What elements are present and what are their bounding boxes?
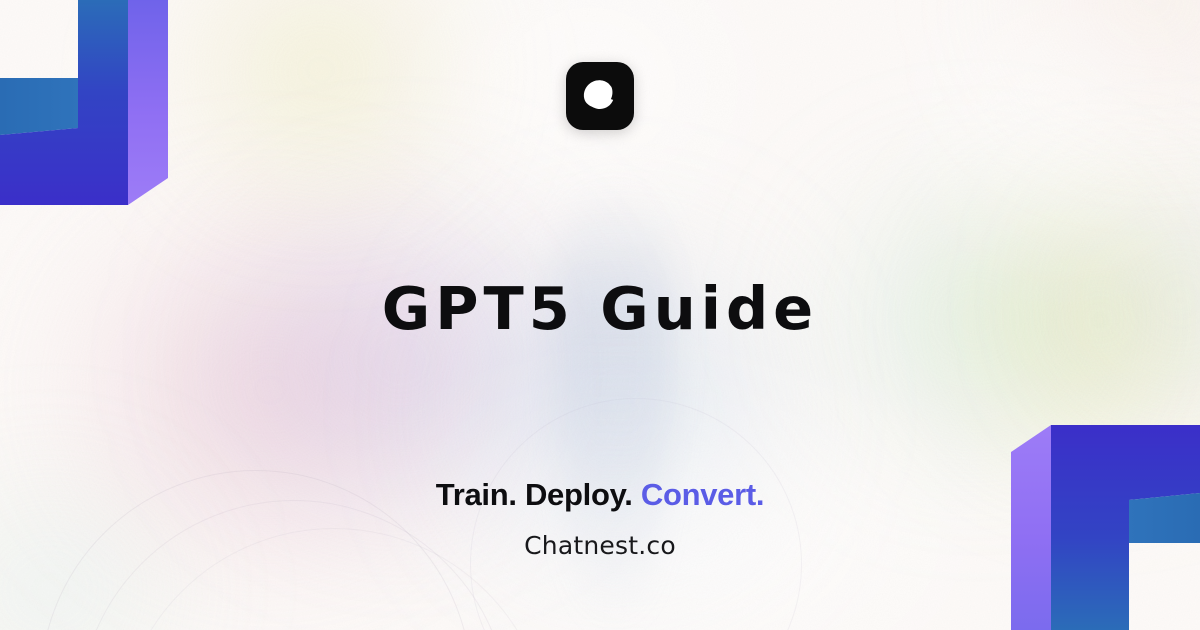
domain-label: Chatnest.co	[0, 531, 1200, 560]
page-title: GPT5 Guide	[0, 278, 1200, 340]
tagline: Train. Deploy. Convert.	[0, 477, 1200, 513]
tagline-accent: Convert.	[641, 477, 764, 512]
og-social-card: GPT5 Guide Train. Deploy. Convert. Chatn…	[0, 0, 1200, 630]
chatnest-c-logo-icon	[580, 76, 620, 116]
card-content: GPT5 Guide Train. Deploy. Convert. Chatn…	[0, 0, 1200, 630]
tagline-primary: Train. Deploy.	[436, 477, 633, 512]
brand-logo-badge	[566, 62, 634, 130]
